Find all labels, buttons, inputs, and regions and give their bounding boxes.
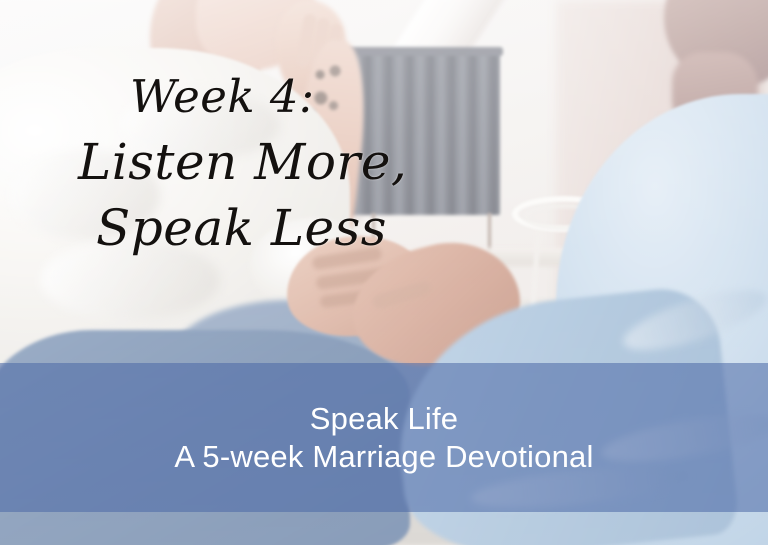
series-banner: Speak Life A 5-week Marriage Devotional xyxy=(0,363,768,512)
series-title: Speak Life xyxy=(310,400,459,438)
sweater-fold xyxy=(10,150,160,240)
series-subtitle: A 5-week Marriage Devotional xyxy=(174,438,593,476)
wall-radiator xyxy=(348,52,500,215)
sweater-fold xyxy=(40,240,220,320)
sweater-fold xyxy=(120,90,280,160)
devotional-title-card: Week 4: Listen More, Speak Less Speak Li… xyxy=(0,0,768,545)
